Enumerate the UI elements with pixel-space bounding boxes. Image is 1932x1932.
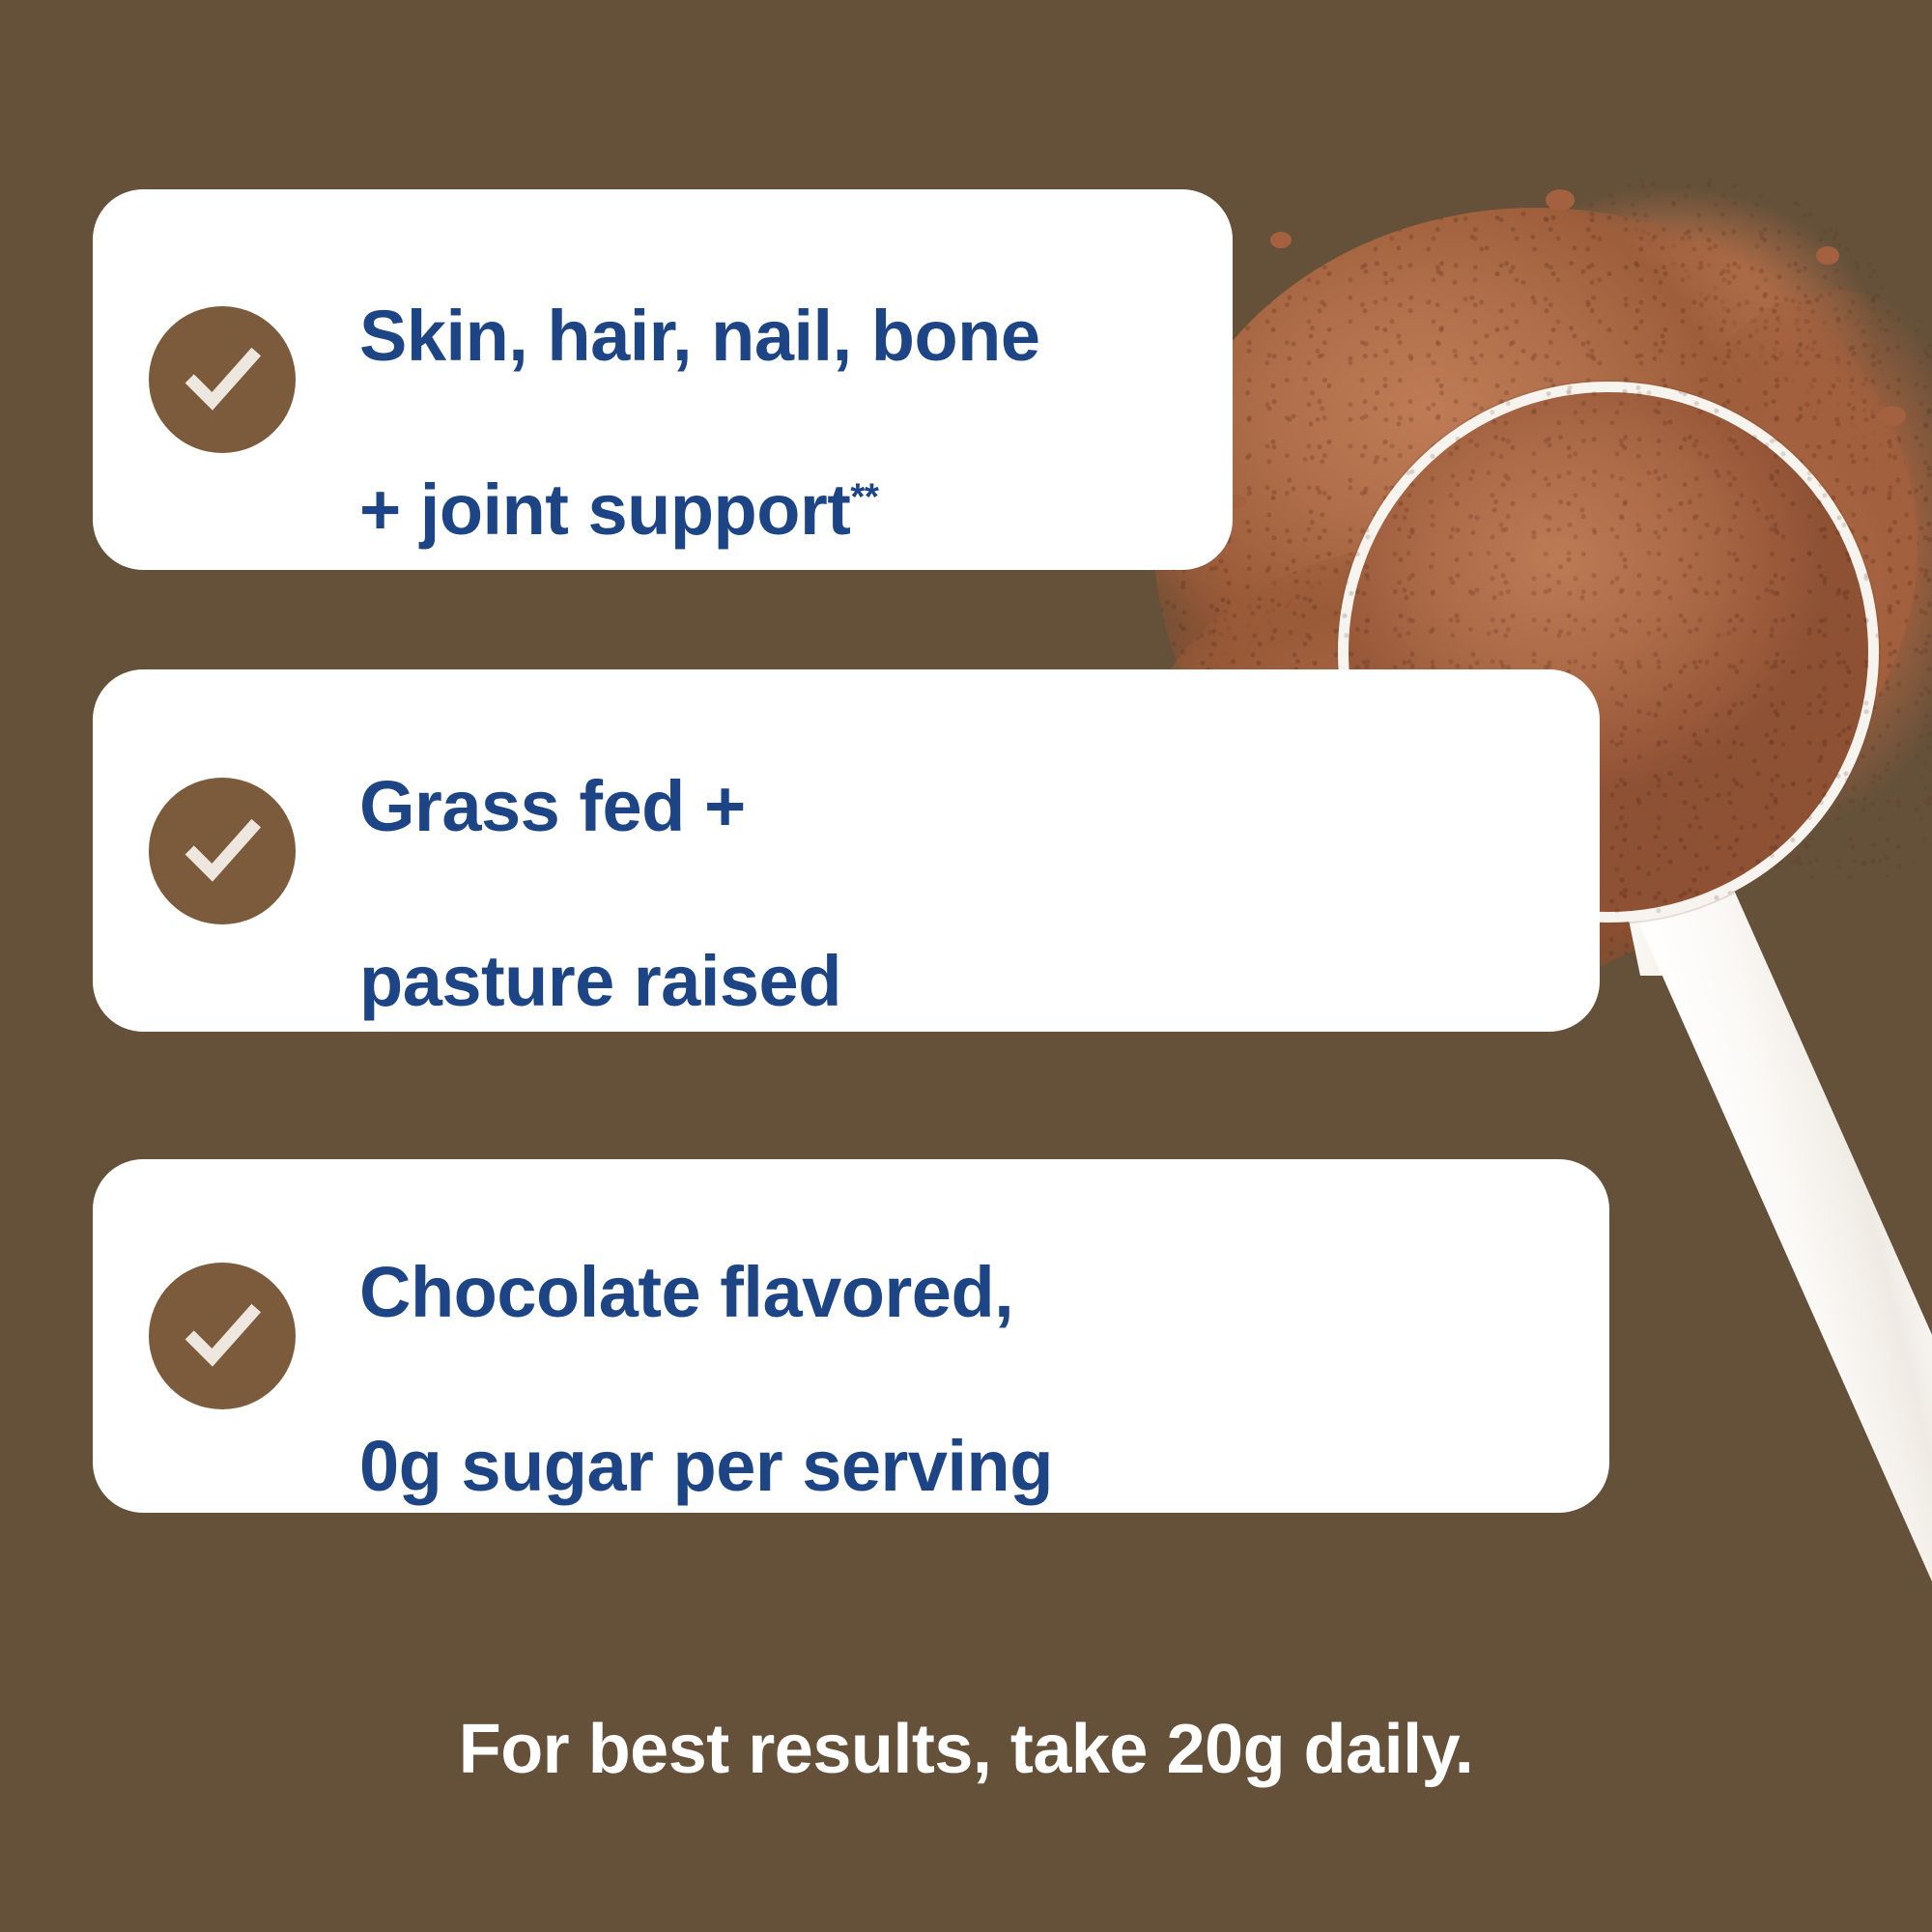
scoop-handle (1636, 880, 1932, 1801)
powder-crumb (1879, 406, 1906, 426)
benefit-card-3: Chocolate flavored, 0g sugar per serving (93, 1159, 1609, 1513)
benefit-card-3-text: Chocolate flavored, 0g sugar per serving (359, 1161, 1053, 1510)
benefit-card-2-text: Grass fed + pasture raised (359, 676, 841, 1025)
benefit-1-line-1: Skin, hair, nail, bone (359, 296, 1040, 376)
product-benefits-graphic: Skin, hair, nail, bone + joint support**… (0, 0, 1932, 1932)
benefit-1-line-2: + joint support (359, 469, 850, 550)
footer-caption: For best results, take 20g daily. (0, 1710, 1932, 1789)
powder-crumb (1270, 232, 1292, 248)
benefit-1-footnote-marker: ** (850, 477, 878, 519)
scoop-neck (1594, 850, 1739, 976)
benefit-3-line-2: 0g sugar per serving (359, 1426, 1053, 1506)
powder-crumb (1546, 189, 1575, 211)
powder-crumb (1816, 246, 1839, 265)
check-icon (149, 778, 296, 924)
benefit-2-line-2: pasture raised (359, 941, 841, 1021)
benefit-card-1-text: Skin, hair, nail, bone + joint support** (359, 205, 1040, 554)
powder-crumb (1700, 850, 1721, 866)
powder-mound-top-right (1478, 174, 1893, 493)
powder-mound-right (1642, 290, 1932, 889)
check-icon (149, 306, 296, 453)
benefit-card-2: Grass fed + pasture raised (93, 669, 1600, 1032)
check-icon (149, 1263, 296, 1409)
benefit-card-1: Skin, hair, nail, bone + joint support** (93, 189, 1233, 570)
benefit-2-line-1: Grass fed + (359, 766, 746, 846)
benefit-3-line-1: Chocolate flavored, (359, 1252, 1013, 1332)
